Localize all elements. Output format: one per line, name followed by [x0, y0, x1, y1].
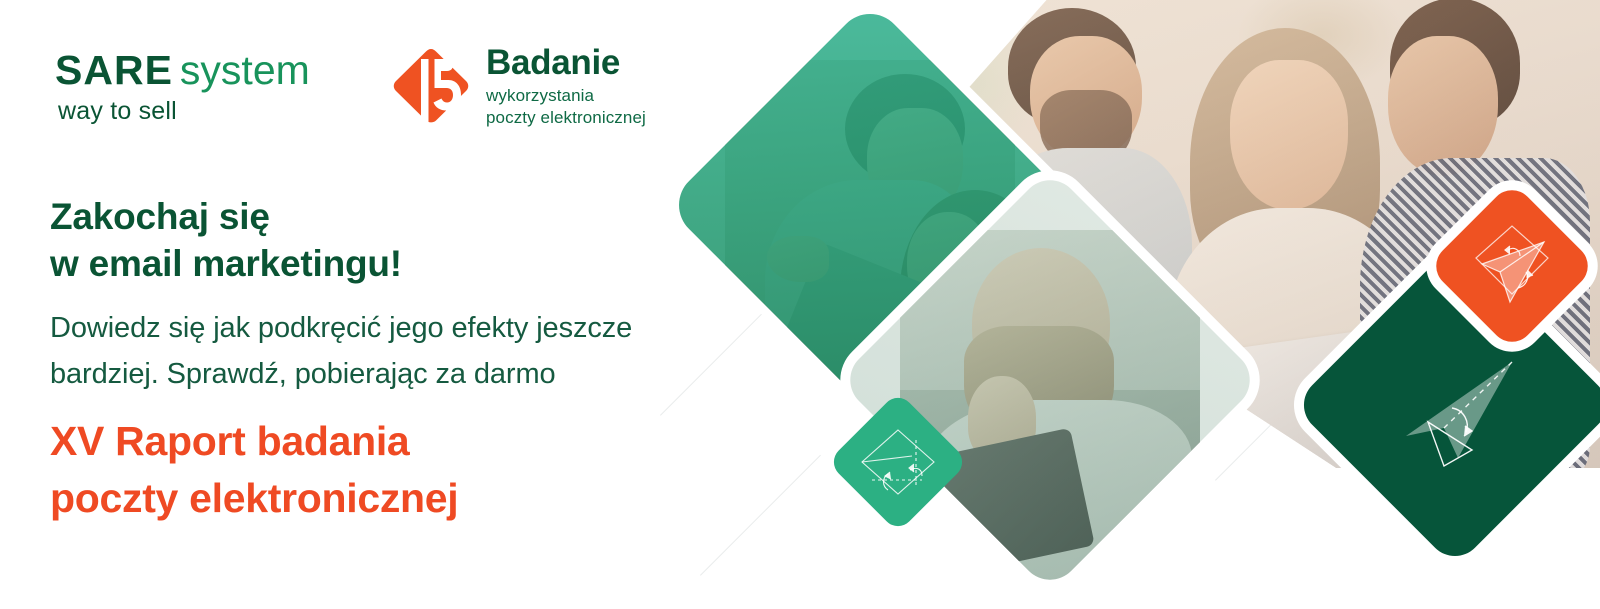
report-title-line2: poczty elektronicznej [50, 470, 458, 527]
body-copy-line2: bardziej. Sprawdź, pobierając za darmo [50, 351, 632, 397]
badanie-text-block: Badanie wykorzystania poczty elektronicz… [486, 45, 646, 130]
sare-wordmark: SARE [55, 47, 173, 93]
promo-banner: SAREsystem way to sell Badanie wykorzyst… [0, 0, 1600, 609]
badanie-logo[interactable]: Badanie wykorzystania poczty elektronicz… [390, 45, 646, 135]
headline-line2: w email marketingu! [50, 240, 402, 287]
image-collage [640, 0, 1600, 609]
body-copy: Dowiedz się jak podkręcić jego efekty je… [50, 305, 632, 398]
badanie-subtitle-line1: wykorzystania [486, 85, 646, 107]
headline: Zakochaj się w email marketingu! [50, 193, 402, 288]
paper-plane-icon [1452, 206, 1572, 326]
sare-product-label: system [180, 47, 310, 93]
sare-tagline: way to sell [55, 99, 310, 124]
content-pane: SAREsystem way to sell Badanie wykorzyst… [0, 0, 760, 609]
badanie-subtitle-line2: poczty elektronicznej [486, 107, 646, 129]
report-title: XV Raport badania poczty elektronicznej [50, 413, 458, 528]
sare-system-logo[interactable]: SAREsystem way to sell [55, 50, 310, 124]
headline-line1: Zakochaj się [50, 193, 402, 240]
badanie-title: Badanie [486, 45, 646, 80]
badanie-subtitle: wykorzystania poczty elektronicznej [486, 85, 646, 130]
badanie-mark-icon [390, 47, 472, 135]
sare-logo-row: SAREsystem [55, 50, 310, 91]
body-copy-line1: Dowiedz się jak podkręcić jego efekty je… [50, 305, 632, 351]
origami-fold-icon [848, 412, 948, 512]
report-title-line1: XV Raport badania [50, 413, 458, 470]
